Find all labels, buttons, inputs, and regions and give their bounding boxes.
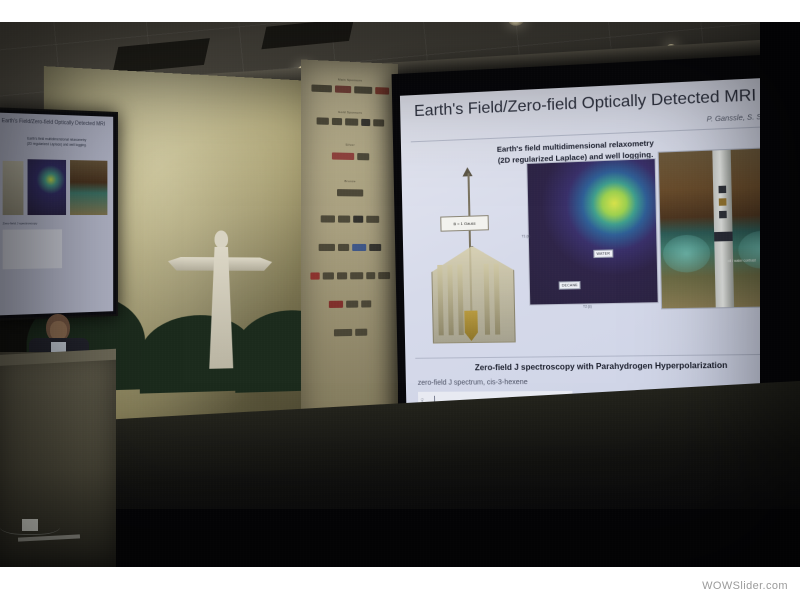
tool-port — [719, 198, 727, 206]
statue-head — [215, 230, 229, 248]
sponsor-row-caption: Main Sponsors — [301, 76, 398, 84]
tool-port — [718, 186, 726, 194]
tool-port — [719, 211, 727, 219]
sponsor-row-caption: Silver — [301, 141, 398, 148]
conference-photo: Main Sponsors Gold Sponsors Silver Bronz… — [0, 22, 800, 567]
slide-divider — [415, 354, 790, 359]
tool-band — [714, 232, 733, 242]
fluid-pool — [663, 234, 711, 273]
secondary-slide-image: Earth's Field/Zero-field Optically Detec… — [0, 113, 113, 316]
well-annotation: oil / water contrast — [728, 258, 756, 263]
letterbox-bottom — [0, 567, 800, 600]
slide-title: Earth's Field/Zero-field Optically Detec… — [414, 87, 756, 121]
screenshot-root: Main Sponsors Gold Sponsors Silver Bronz… — [0, 0, 800, 600]
relaxometry-heatmap: WATER DECANE — [526, 158, 659, 306]
secondary-projection-screen: Earth's Field/Zero-field Optically Detec… — [0, 107, 118, 321]
heatmap-ylabel: T1 (s) — [522, 234, 531, 238]
letterbox-top — [0, 0, 800, 22]
earths-field-apparatus-diagram: B = 1 Gauss — [415, 165, 528, 350]
sponsor-row-caption: Bronze — [301, 178, 398, 184]
watermark: WOWSlider.com — [702, 580, 788, 592]
sponsor-row-caption: Gold Sponsors — [301, 109, 398, 116]
heatmap-label-water: WATER — [593, 249, 613, 258]
heatmap-label-decane: DECANE — [559, 281, 581, 290]
heatmap-xlabel: T2 (s) — [583, 304, 592, 308]
slide-section-subtitle: zero-field J spectrum, cis-3-hexene — [418, 379, 528, 387]
lectern-top — [0, 349, 116, 366]
sponsor-logo-board: Main Sponsors Gold Sponsors Silver Bronz… — [301, 59, 398, 440]
logging-tool — [712, 146, 734, 309]
floor-power-box — [22, 519, 38, 531]
field-strength-tag: B = 1 Gauss — [440, 215, 489, 232]
stage-front — [0, 509, 800, 567]
slide-section-heading: Zero-field J spectroscopy with Parahydro… — [445, 360, 759, 372]
